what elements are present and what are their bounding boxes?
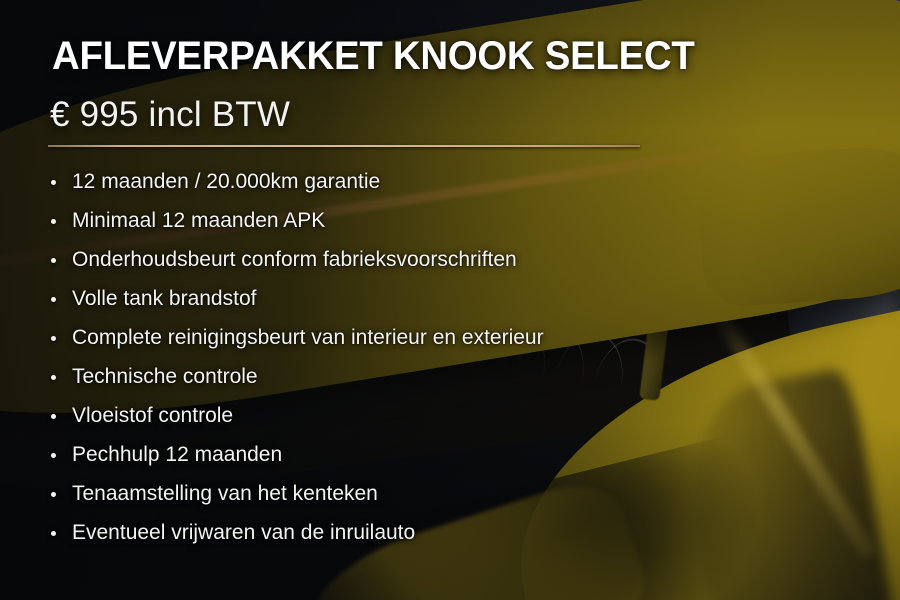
feature-list-item-label: Onderhoudsbeurt conform fabrieksvoorschr… <box>72 248 517 271</box>
bullet-icon <box>51 336 56 341</box>
feature-list: 12 maanden / 20.000km garantieMinimaal 1… <box>48 162 544 552</box>
bullet-icon <box>51 258 56 263</box>
feature-list-item: 12 maanden / 20.000km garantie <box>48 162 544 201</box>
bullet-icon <box>51 453 56 458</box>
card-content: AFLEVERPAKKET KNOOK SELECT € 995 incl BT… <box>0 0 900 600</box>
feature-list-item: Tenaamstelling van het kenteken <box>48 474 544 513</box>
feature-list-item-label: 12 maanden / 20.000km garantie <box>72 170 380 193</box>
bullet-icon <box>51 180 56 185</box>
feature-list-item-label: Complete reinigingsbeurt van interieur e… <box>72 326 544 349</box>
feature-list-item-label: Pechhulp 12 maanden <box>72 443 282 466</box>
bullet-icon <box>51 297 56 302</box>
feature-list-item-label: Minimaal 12 maanden APK <box>72 209 325 232</box>
feature-list-item-label: Vloeistof controle <box>72 404 233 427</box>
bullet-icon <box>51 414 56 419</box>
feature-list-item: Vloeistof controle <box>48 396 544 435</box>
feature-list-item-label: Eventueel vrijwaren van de inruilauto <box>72 521 415 544</box>
feature-list-item: Complete reinigingsbeurt van interieur e… <box>48 318 544 357</box>
feature-list-item: Technische controle <box>48 357 544 396</box>
bullet-icon <box>51 375 56 380</box>
title-divider-rule <box>48 145 640 147</box>
feature-list-item-label: Tenaamstelling van het kenteken <box>72 482 378 505</box>
feature-list-item: Pechhulp 12 maanden <box>48 435 544 474</box>
delivery-package-card: AFLEVERPAKKET KNOOK SELECT € 995 incl BT… <box>0 0 900 600</box>
bullet-icon <box>51 531 56 536</box>
bullet-icon <box>51 219 56 224</box>
feature-list-item: Volle tank brandstof <box>48 279 544 318</box>
package-title: AFLEVERPAKKET KNOOK SELECT <box>52 34 695 79</box>
feature-list-item-label: Technische controle <box>72 365 258 388</box>
feature-list-item: Onderhoudsbeurt conform fabrieksvoorschr… <box>48 240 544 279</box>
bullet-icon <box>51 492 56 497</box>
feature-list-item-label: Volle tank brandstof <box>72 287 256 310</box>
package-price: € 995 incl BTW <box>50 95 290 135</box>
feature-list-item: Minimaal 12 maanden APK <box>48 201 544 240</box>
feature-list-item: Eventueel vrijwaren van de inruilauto <box>48 513 544 552</box>
